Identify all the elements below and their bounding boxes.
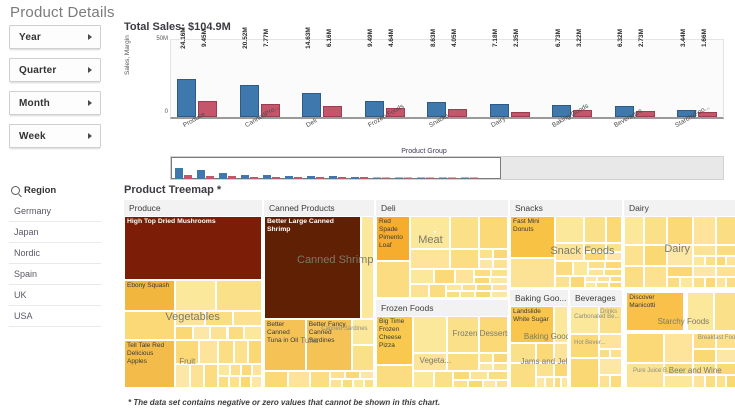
region-item-japan[interactable]: Japan	[9, 222, 101, 243]
treemap-cell[interactable]	[330, 371, 345, 380]
treemap-cell[interactable]	[716, 333, 735, 349]
treemap-cell[interactable]	[693, 333, 715, 349]
treemap-cell[interactable]	[726, 277, 735, 288]
treemap-cell[interactable]	[606, 243, 622, 252]
filter-button-year[interactable]: Year	[9, 25, 101, 49]
treemap-cell[interactable]	[218, 340, 235, 364]
navigator-bar	[228, 176, 236, 179]
chart-title: Total Sales: $104.9M	[124, 21, 724, 33]
treemap-cell[interactable]	[667, 216, 694, 245]
treemap-cell[interactable]	[210, 326, 228, 340]
sales-bar-wrap: 8.63M	[427, 40, 446, 117]
treemap-cell[interactable]	[453, 371, 470, 380]
navigator-bar	[219, 173, 227, 179]
navigator-bar	[294, 177, 302, 179]
treemap-cell[interactable]	[455, 269, 473, 284]
y-tick-top: 50M	[156, 36, 168, 42]
treemap-group[interactable]: DairyDairy	[624, 200, 735, 288]
treemap-cell[interactable]	[610, 349, 622, 359]
treemap-cell[interactable]	[610, 375, 622, 388]
treemap-cell[interactable]	[479, 316, 508, 353]
bar-value-label: 7.18M	[492, 29, 499, 47]
treemap-cell[interactable]	[726, 375, 735, 388]
treemap-cell[interactable]: Tell Tale Red Delicious Apples	[124, 340, 175, 388]
region-item-uk[interactable]: UK	[9, 285, 101, 306]
treemap-cell[interactable]	[288, 371, 310, 388]
treemap-cell[interactable]	[364, 379, 374, 388]
treemap-cell[interactable]	[588, 261, 605, 268]
treemap-cell[interactable]	[573, 261, 589, 275]
treemap-cell[interactable]	[218, 376, 229, 388]
margin-bar[interactable]	[448, 109, 467, 117]
region-item-usa[interactable]: USA	[9, 306, 101, 327]
sales-bar[interactable]	[240, 85, 259, 117]
treemap-cell[interactable]	[644, 245, 666, 267]
chart-navigator-scrollbar[interactable]	[170, 156, 724, 180]
treemap-cell[interactable]	[536, 343, 554, 364]
navigator-bar-group	[219, 173, 236, 179]
treemap-cell[interactable]	[599, 349, 610, 359]
x-axis-label[interactable]: Deli	[305, 117, 318, 129]
treemap-cell[interactable]	[644, 216, 666, 245]
treemap-cell[interactable]	[606, 252, 622, 261]
treemap-cell[interactable]	[626, 363, 664, 388]
treemap-cell[interactable]	[240, 376, 251, 388]
treemap-cell[interactable]	[413, 371, 434, 388]
treemap-cell[interactable]	[667, 245, 694, 267]
treemap-group-body: Discover ManicottiStarchy FoodsBreakfast…	[624, 290, 735, 388]
treemap-cell[interactable]	[434, 371, 452, 388]
treemap-column: SnacksFast Mini DonutsSnack FoodsBaking …	[510, 200, 622, 390]
navigator-bar	[307, 176, 315, 179]
treemap-group-header: Beverages	[570, 290, 622, 306]
y-tick-bottom: 0	[165, 109, 168, 115]
treemap-cell[interactable]	[570, 306, 599, 334]
treemap-cell[interactable]	[687, 292, 714, 331]
navigator-bar	[426, 177, 434, 179]
treemap-cell[interactable]	[596, 282, 608, 288]
navigator-bar-group	[175, 168, 192, 179]
treemap-cell[interactable]	[510, 363, 536, 388]
treemap-group[interactable]: Discover ManicottiStarchy FoodsBreakfast…	[624, 290, 735, 388]
treemap-cell[interactable]	[479, 353, 494, 362]
treemap-group-header: Produce	[124, 200, 262, 216]
treemap-cell[interactable]	[175, 340, 198, 364]
treemap-cell[interactable]	[555, 243, 584, 261]
treemap-group[interactable]: BeveragesCarbonated Be...Hot Bever...Dri…	[570, 290, 622, 388]
treemap-cell[interactable]	[475, 291, 491, 298]
treemap-cell[interactable]	[714, 292, 735, 331]
region-header[interactable]: Region	[9, 183, 101, 201]
treemap-cell[interactable]	[233, 311, 262, 326]
filter-button-month-label: Month	[19, 98, 50, 109]
treemap-cell-label: Landslide White Sugar	[511, 307, 553, 325]
treemap-group[interactable]: ProduceHigh Top Dried MushroomsEbony Squ…	[124, 200, 262, 388]
filter-button-month[interactable]: Month	[9, 91, 101, 115]
product-treemap[interactable]: ProduceHigh Top Dried MushroomsEbony Squ…	[124, 200, 730, 390]
treemap-cell[interactable]	[693, 363, 715, 376]
treemap-cell[interactable]	[488, 371, 508, 380]
treemap-cell[interactable]	[493, 353, 508, 362]
filter-button-week[interactable]: Week	[9, 124, 101, 148]
treemap-cell[interactable]	[492, 284, 508, 291]
chevron-right-icon	[88, 133, 92, 139]
navigator-bar-group	[417, 177, 434, 179]
treemap-cell[interactable]	[644, 266, 666, 288]
treemap-cell[interactable]	[476, 284, 492, 291]
treemap-cell[interactable]	[310, 371, 330, 388]
treemap-cell[interactable]	[474, 277, 490, 284]
bar-value-label: 14.63M	[305, 27, 312, 49]
sales-margin-chart-panel: Total Sales: $104.9M Sales, Margin 50M 0…	[124, 21, 724, 154]
treemap-cell[interactable]	[491, 291, 508, 298]
treemap-cell[interactable]: Red Spade Pimento Loaf	[376, 216, 410, 261]
treemap-cell-label: High Top Dried Mushrooms	[125, 217, 261, 227]
treemap-cell[interactable]	[234, 340, 248, 364]
treemap-cell[interactable]	[352, 345, 374, 371]
treemap-cell[interactable]	[175, 311, 205, 326]
region-filter-panel: Region Germany Japan Nordic Spain UK USA	[9, 183, 101, 327]
sales-bar[interactable]	[490, 104, 509, 117]
treemap-cell[interactable]	[376, 261, 410, 298]
treemap-cell[interactable]	[597, 276, 609, 282]
treemap-cell[interactable]	[693, 216, 715, 245]
treemap-column: DeliRed Spade Pimento LoafMeatFrozen Foo…	[376, 200, 508, 390]
treemap-cell[interactable]	[610, 276, 622, 282]
treemap-cell[interactable]	[252, 364, 262, 376]
chevron-right-icon	[88, 34, 92, 40]
treemap-cell[interactable]	[413, 353, 447, 371]
treemap-cell[interactable]: Better Canned Tuna in Oil	[264, 319, 306, 371]
treemap-cell[interactable]	[554, 343, 568, 364]
navigator-bar	[382, 177, 390, 179]
treemap-cell[interactable]	[693, 256, 704, 267]
treemap-cell[interactable]	[479, 259, 494, 270]
region-item-nordic[interactable]: Nordic	[9, 243, 101, 264]
treemap-cell[interactable]	[510, 258, 555, 288]
bar-value-label: 6.32M	[617, 29, 624, 47]
treemap-group-body: Dairy	[624, 216, 735, 288]
treemap-cell[interactable]	[667, 266, 694, 277]
filter-button-quarter-label: Quarter	[19, 65, 57, 76]
page-title: Product Details	[10, 4, 115, 21]
treemap-cell[interactable]	[490, 277, 508, 284]
treemap-cell[interactable]	[584, 243, 606, 252]
sales-bar-wrap: 24.16M	[177, 40, 196, 117]
treemap-cell[interactable]	[124, 311, 175, 340]
margin-bar[interactable]	[323, 106, 342, 117]
sales-bar[interactable]	[177, 79, 196, 117]
treemap-cell[interactable]	[667, 277, 680, 288]
treemap-cell[interactable]	[555, 276, 571, 288]
treemap-cell[interactable]	[588, 269, 604, 276]
bar-value-label: 3.44M	[680, 29, 687, 47]
treemap-cell[interactable]	[244, 326, 262, 340]
treemap-group-header: Deli	[376, 200, 508, 216]
treemap-group[interactable]: Frozen FoodsBig Time Frozen Cheese Pizza…	[376, 300, 508, 388]
treemap-cell[interactable]	[604, 269, 622, 276]
treemap-cell[interactable]	[205, 311, 233, 326]
treemap-cell[interactable]	[555, 216, 584, 243]
search-icon[interactable]	[11, 186, 20, 195]
treemap-cell[interactable]	[342, 379, 353, 388]
treemap-cell[interactable]	[570, 358, 599, 388]
treemap-cell[interactable]	[680, 277, 693, 288]
treemap-cell[interactable]	[446, 291, 461, 298]
treemap-cell[interactable]	[493, 363, 508, 372]
treemap-cell[interactable]	[190, 364, 204, 388]
treemap-cell[interactable]	[361, 216, 374, 319]
treemap-cell[interactable]	[716, 256, 726, 267]
navigator-bar-group	[263, 175, 280, 179]
treemap-cell[interactable]: Discover Manicotti	[626, 292, 684, 331]
treemap-cell[interactable]	[599, 358, 622, 374]
treemap-cell[interactable]	[716, 277, 726, 288]
treemap-cell[interactable]	[609, 282, 622, 288]
treemap-cell[interactable]	[705, 256, 716, 267]
treemap-cell[interactable]	[585, 282, 596, 288]
treemap-cell[interactable]: Better Large Canned Shrimp	[264, 216, 361, 319]
sales-bar-wrap: 6.73M	[552, 40, 571, 117]
treemap-cell[interactable]	[584, 216, 606, 243]
treemap-cell[interactable]	[216, 280, 262, 311]
treemap-cell[interactable]	[624, 266, 644, 288]
bar-value-label: 2.73M	[638, 29, 645, 47]
treemap-cell[interactable]	[664, 363, 693, 376]
navigator-bar-group	[461, 177, 478, 179]
treemap-cell[interactable]	[353, 379, 364, 388]
treemap-cell[interactable]	[376, 365, 413, 388]
treemap-cell[interactable]	[626, 333, 664, 362]
navigator-bar	[439, 177, 447, 179]
bar-group[interactable]: 8.63M4.05M	[427, 40, 467, 117]
treemap-cell[interactable]	[705, 375, 716, 388]
treemap-cell[interactable]	[434, 231, 436, 233]
navigator-bar	[206, 176, 214, 179]
treemap-cell[interactable]	[545, 377, 554, 388]
navigator-bar	[184, 175, 192, 179]
margin-bar-wrap: 2.73M	[636, 40, 655, 117]
treemap-cell[interactable]	[493, 259, 508, 270]
treemap-cell[interactable]: Big Time Frozen Cheese Pizza	[376, 316, 413, 365]
filter-button-quarter[interactable]: Quarter	[9, 58, 101, 82]
navigator-bar	[360, 177, 368, 179]
treemap-cell[interactable]	[599, 334, 622, 349]
bar-group[interactable]: 6.32M2.73M	[615, 40, 655, 117]
sales-bar[interactable]	[302, 93, 321, 117]
treemap-cell[interactable]	[193, 326, 210, 340]
margin-bar[interactable]	[511, 112, 530, 117]
sales-bar-wrap: 20.52M	[240, 40, 259, 117]
treemap-cell[interactable]	[664, 375, 693, 388]
treemap-cell[interactable]	[470, 371, 488, 380]
navigator-bar	[448, 177, 456, 179]
treemap-cell[interactable]	[693, 266, 715, 277]
sales-bar-wrap: 6.32M	[615, 40, 634, 117]
treemap-cell[interactable]	[413, 316, 447, 353]
treemap-cell[interactable]	[175, 280, 216, 311]
treemap-cell[interactable]	[693, 349, 715, 363]
treemap-cell[interactable]	[410, 269, 434, 284]
treemap-cell[interactable]	[264, 371, 288, 388]
treemap-cell[interactable]	[474, 269, 491, 276]
treemap-cell[interactable]	[345, 371, 359, 380]
treemap-group[interactable]: Baking Goo...Landslide White SugarBaking…	[510, 290, 568, 388]
treemap-column: Canned ProductsBetter Large Canned Shrim…	[264, 200, 374, 390]
filter-button-week-label: Week	[19, 131, 46, 142]
treemap-cell[interactable]	[536, 363, 554, 376]
treemap-cell[interactable]	[360, 371, 374, 380]
treemap-cell[interactable]	[536, 377, 545, 388]
treemap-cell[interactable]	[693, 245, 715, 256]
treemap-group-body: Carbonated Be...Hot Bever...Drinks	[570, 306, 622, 388]
treemap-cell[interactable]: Fast Mini Donuts	[510, 216, 555, 258]
bar-group[interactable]: 3.44M1.66M	[677, 40, 717, 117]
treemap-cell[interactable]	[479, 363, 494, 372]
navigator-bar-group	[329, 176, 346, 179]
chart-plot-area[interactable]: 24.16M9.45M20.52M7.77M14.63M6.16M9.49M4.…	[170, 39, 724, 119]
treemap-group[interactable]: Canned ProductsBetter Large Canned Shrim…	[264, 200, 374, 388]
navigator-bar	[417, 177, 425, 179]
bar-value-label: 3.22M	[576, 29, 583, 47]
region-item-germany[interactable]: Germany	[9, 201, 101, 222]
treemap-cell[interactable]	[251, 376, 262, 388]
treemap-cell[interactable]	[555, 261, 573, 275]
treemap-column: DairyDairyDiscover ManicottiStarchy Food…	[624, 200, 735, 390]
treemap-cell[interactable]	[605, 261, 622, 268]
treemap-cell[interactable]	[479, 249, 494, 259]
treemap-cell[interactable]	[716, 245, 735, 256]
treemap-cell[interactable]	[248, 340, 262, 364]
bottom-spacer	[0, 414, 735, 420]
treemap-cell[interactable]	[450, 216, 479, 249]
treemap-cell[interactable]	[447, 353, 479, 371]
navigator-axis-label: Product Group	[124, 148, 724, 155]
treemap-group-header: Dairy	[624, 200, 735, 216]
treemap-cell[interactable]	[554, 363, 568, 376]
bar-value-label: 8.63M	[430, 29, 437, 47]
treemap-cell[interactable]	[599, 306, 622, 334]
treemap-title: Product Treemap *	[124, 184, 221, 196]
treemap-cell[interactable]	[204, 364, 218, 388]
navigator-bar	[329, 176, 337, 179]
bar-value-label: 6.73M	[555, 29, 562, 47]
navigator-bar	[338, 177, 346, 179]
treemap-group-body: Better Large Canned ShrimpBetter Canned …	[264, 216, 374, 388]
treemap-cell[interactable]	[570, 334, 599, 359]
treemap-cell[interactable]: Ebony Squash	[124, 280, 175, 311]
treemap-cell[interactable]	[716, 375, 726, 388]
treemap-cell[interactable]	[218, 364, 230, 376]
treemap-cell[interactable]	[468, 380, 483, 388]
navigator-bar-group	[197, 170, 214, 179]
treemap-cell[interactable]	[175, 364, 190, 388]
bar-group[interactable]: 14.63M6.16M	[302, 40, 342, 117]
treemap-cell[interactable]	[606, 216, 622, 243]
treemap-cell[interactable]	[554, 377, 561, 388]
treemap-cell[interactable]	[479, 216, 508, 249]
region-title: Region	[24, 185, 56, 196]
treemap-cell[interactable]: Landslide White Sugar	[510, 306, 554, 343]
chevron-right-icon	[88, 100, 92, 106]
treemap-cell[interactable]	[241, 364, 252, 376]
treemap-cell[interactable]	[624, 245, 644, 267]
treemap-cell[interactable]	[429, 284, 446, 298]
treemap-cell[interactable]	[624, 216, 644, 245]
treemap-cell[interactable]	[446, 284, 462, 291]
treemap-cell[interactable]	[410, 249, 450, 270]
treemap-cell[interactable]	[491, 269, 508, 276]
treemap-cell[interactable]	[693, 375, 704, 388]
bar-group[interactable]: 7.18M2.35M	[490, 40, 530, 117]
margin-bar-wrap: 9.45M	[198, 40, 217, 117]
treemap-cell-label: Tell Tale Red Delicious Apples	[125, 341, 174, 367]
navigator-bar	[250, 177, 258, 179]
treemap-cell[interactable]	[410, 284, 428, 298]
navigator-minibars	[171, 157, 723, 179]
treemap-cell[interactable]	[584, 252, 606, 261]
treemap-cell[interactable]	[228, 326, 245, 340]
treemap-cell[interactable]	[716, 349, 735, 363]
treemap-cell[interactable]	[496, 380, 508, 388]
treemap-cell[interactable]	[230, 364, 241, 376]
treemap-cell[interactable]	[510, 343, 536, 364]
treemap-cell[interactable]	[693, 277, 704, 288]
treemap-cell[interactable]	[664, 333, 693, 362]
treemap-cell[interactable]	[483, 380, 496, 388]
treemap-cell[interactable]	[352, 319, 374, 345]
treemap-cell[interactable]	[716, 266, 735, 277]
treemap-cell[interactable]	[453, 380, 469, 388]
region-item-spain[interactable]: Spain	[9, 264, 101, 285]
treemap-cell[interactable]	[460, 291, 475, 298]
bar-group[interactable]: 24.16M9.45M	[177, 40, 217, 117]
navigator-bar-group	[307, 176, 324, 179]
treemap-cell[interactable]	[585, 276, 597, 282]
treemap-cell[interactable]	[434, 269, 455, 284]
treemap-cell-label: Red Spade Pimento Loaf	[377, 217, 409, 252]
treemap-cell[interactable]	[447, 316, 479, 353]
treemap-cell[interactable]: High Top Dried Mushrooms	[124, 216, 262, 280]
treemap-cell[interactable]	[462, 284, 477, 291]
treemap-cell[interactable]: Better Fancy Canned Sardines	[306, 319, 352, 371]
treemap-cell[interactable]	[599, 375, 610, 388]
treemap-group[interactable]: SnacksFast Mini DonutsSnack Foods	[510, 200, 622, 288]
navigator-bar	[285, 176, 293, 179]
treemap-cell[interactable]	[716, 363, 735, 376]
treemap-cell[interactable]	[450, 249, 479, 270]
treemap-cell[interactable]	[175, 326, 193, 340]
treemap-cell[interactable]	[410, 216, 450, 249]
treemap-group-header: Baking Goo...	[510, 290, 568, 306]
treemap-cell[interactable]	[199, 340, 218, 364]
chevron-right-icon	[88, 67, 92, 73]
navigator-bar	[241, 175, 249, 179]
treemap-cell[interactable]	[705, 277, 716, 288]
treemap-cell[interactable]	[330, 379, 342, 388]
treemap-group-header: Canned Products	[264, 200, 374, 216]
treemap-cell[interactable]	[229, 376, 240, 388]
treemap-cell[interactable]	[570, 276, 585, 288]
treemap-cell[interactable]	[716, 216, 735, 245]
treemap-cell[interactable]	[554, 306, 568, 343]
treemap-cell[interactable]	[493, 249, 508, 259]
treemap-group[interactable]: DeliRed Spade Pimento LoafMeat	[376, 200, 508, 298]
bar-value-label: 7.77M	[263, 29, 270, 47]
treemap-cell[interactable]	[561, 377, 568, 388]
treemap-cell[interactable]	[726, 256, 735, 267]
treemap-group-body: Red Spade Pimento LoafMeat	[376, 216, 508, 298]
